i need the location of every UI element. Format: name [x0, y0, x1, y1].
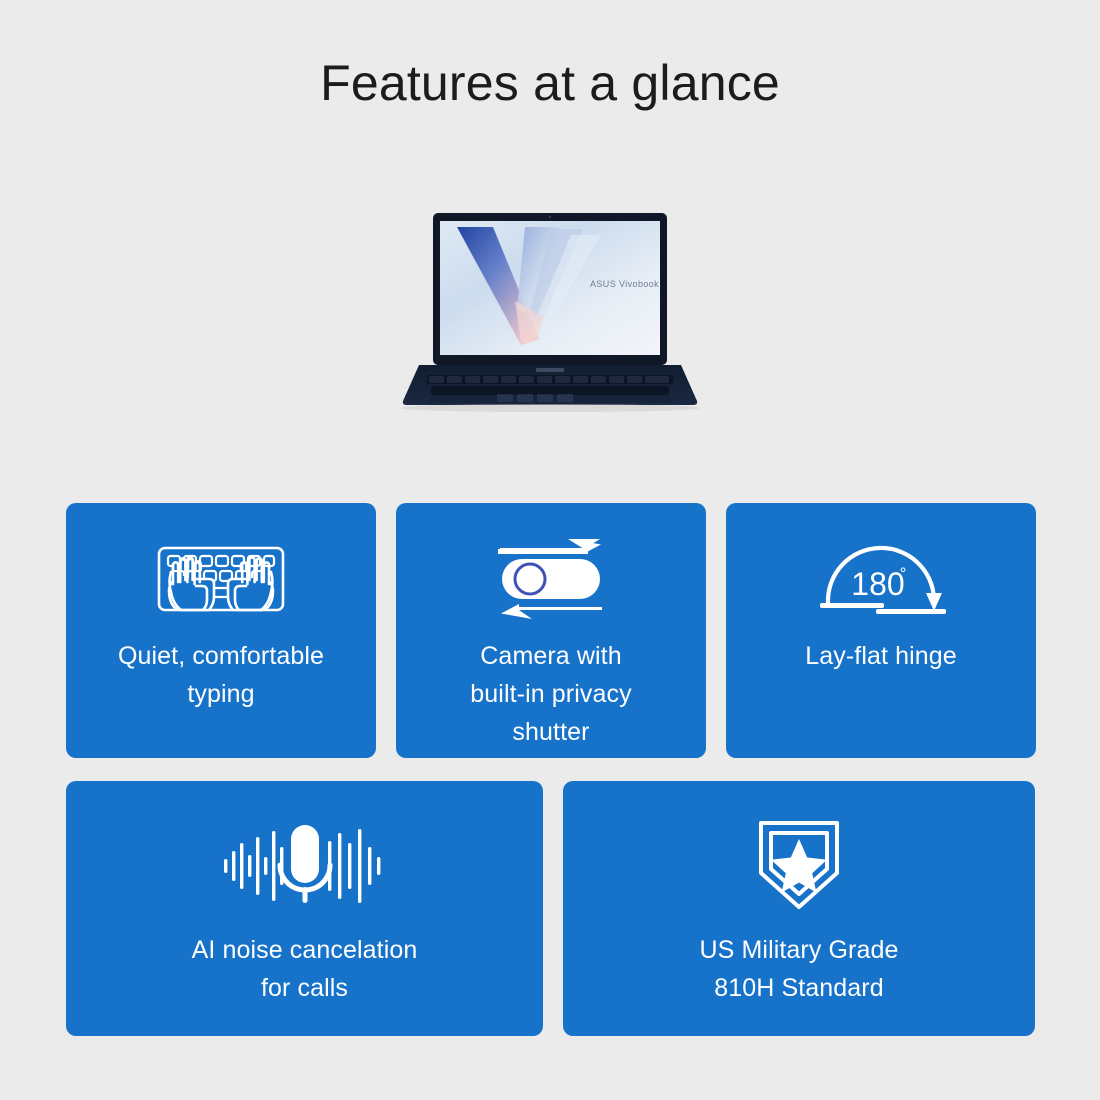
- hero-product-image: ASUS Vivobook: [375, 205, 725, 420]
- feature-card-us-military-grade[interactable]: US Military Grade 810H Standard: [563, 781, 1035, 1036]
- feature-cards-grid: Quiet, comfortable typing: [66, 503, 1036, 1036]
- feature-card-privacy-shutter[interactable]: Camera with built-in privacy shutter: [396, 503, 706, 758]
- feature-card-lay-flat-hinge[interactable]: 180 ° Lay-flat hinge: [726, 503, 1036, 758]
- feature-highlight-page: Features at a glance: [0, 0, 1100, 1100]
- feature-card-quiet-typing[interactable]: Quiet, comfortable typing: [66, 503, 376, 758]
- microphone-waveform-icon: [220, 821, 390, 909]
- feature-card-label: Quiet, comfortable typing: [102, 637, 340, 713]
- keyboard-hands-icon: [151, 535, 291, 623]
- shield-star-icon: [753, 821, 845, 909]
- hinge-angle-unit: °: [900, 564, 907, 583]
- laptop-open-front-view-icon: ASUS Vivobook: [375, 205, 725, 420]
- feature-cards-row-2: AI noise cancelation for calls US Milita…: [66, 781, 1036, 1036]
- hinge-angle-value: 180: [851, 566, 904, 602]
- hinge-180-degree-icon: 180 °: [806, 535, 956, 623]
- feature-cards-row-1: Quiet, comfortable typing: [66, 503, 1036, 758]
- feature-card-label: Camera with built-in privacy shutter: [454, 637, 647, 751]
- feature-card-ai-noise-cancelation[interactable]: AI noise cancelation for calls: [66, 781, 543, 1036]
- feature-card-label: Lay-flat hinge: [789, 637, 973, 675]
- camera-privacy-shutter-icon: [488, 535, 614, 623]
- screen-logo-text: ASUS Vivobook: [590, 279, 659, 289]
- feature-card-label: US Military Grade 810H Standard: [684, 931, 915, 1007]
- page-title: Features at a glance: [0, 52, 1100, 114]
- feature-card-label: AI noise cancelation for calls: [176, 931, 434, 1007]
